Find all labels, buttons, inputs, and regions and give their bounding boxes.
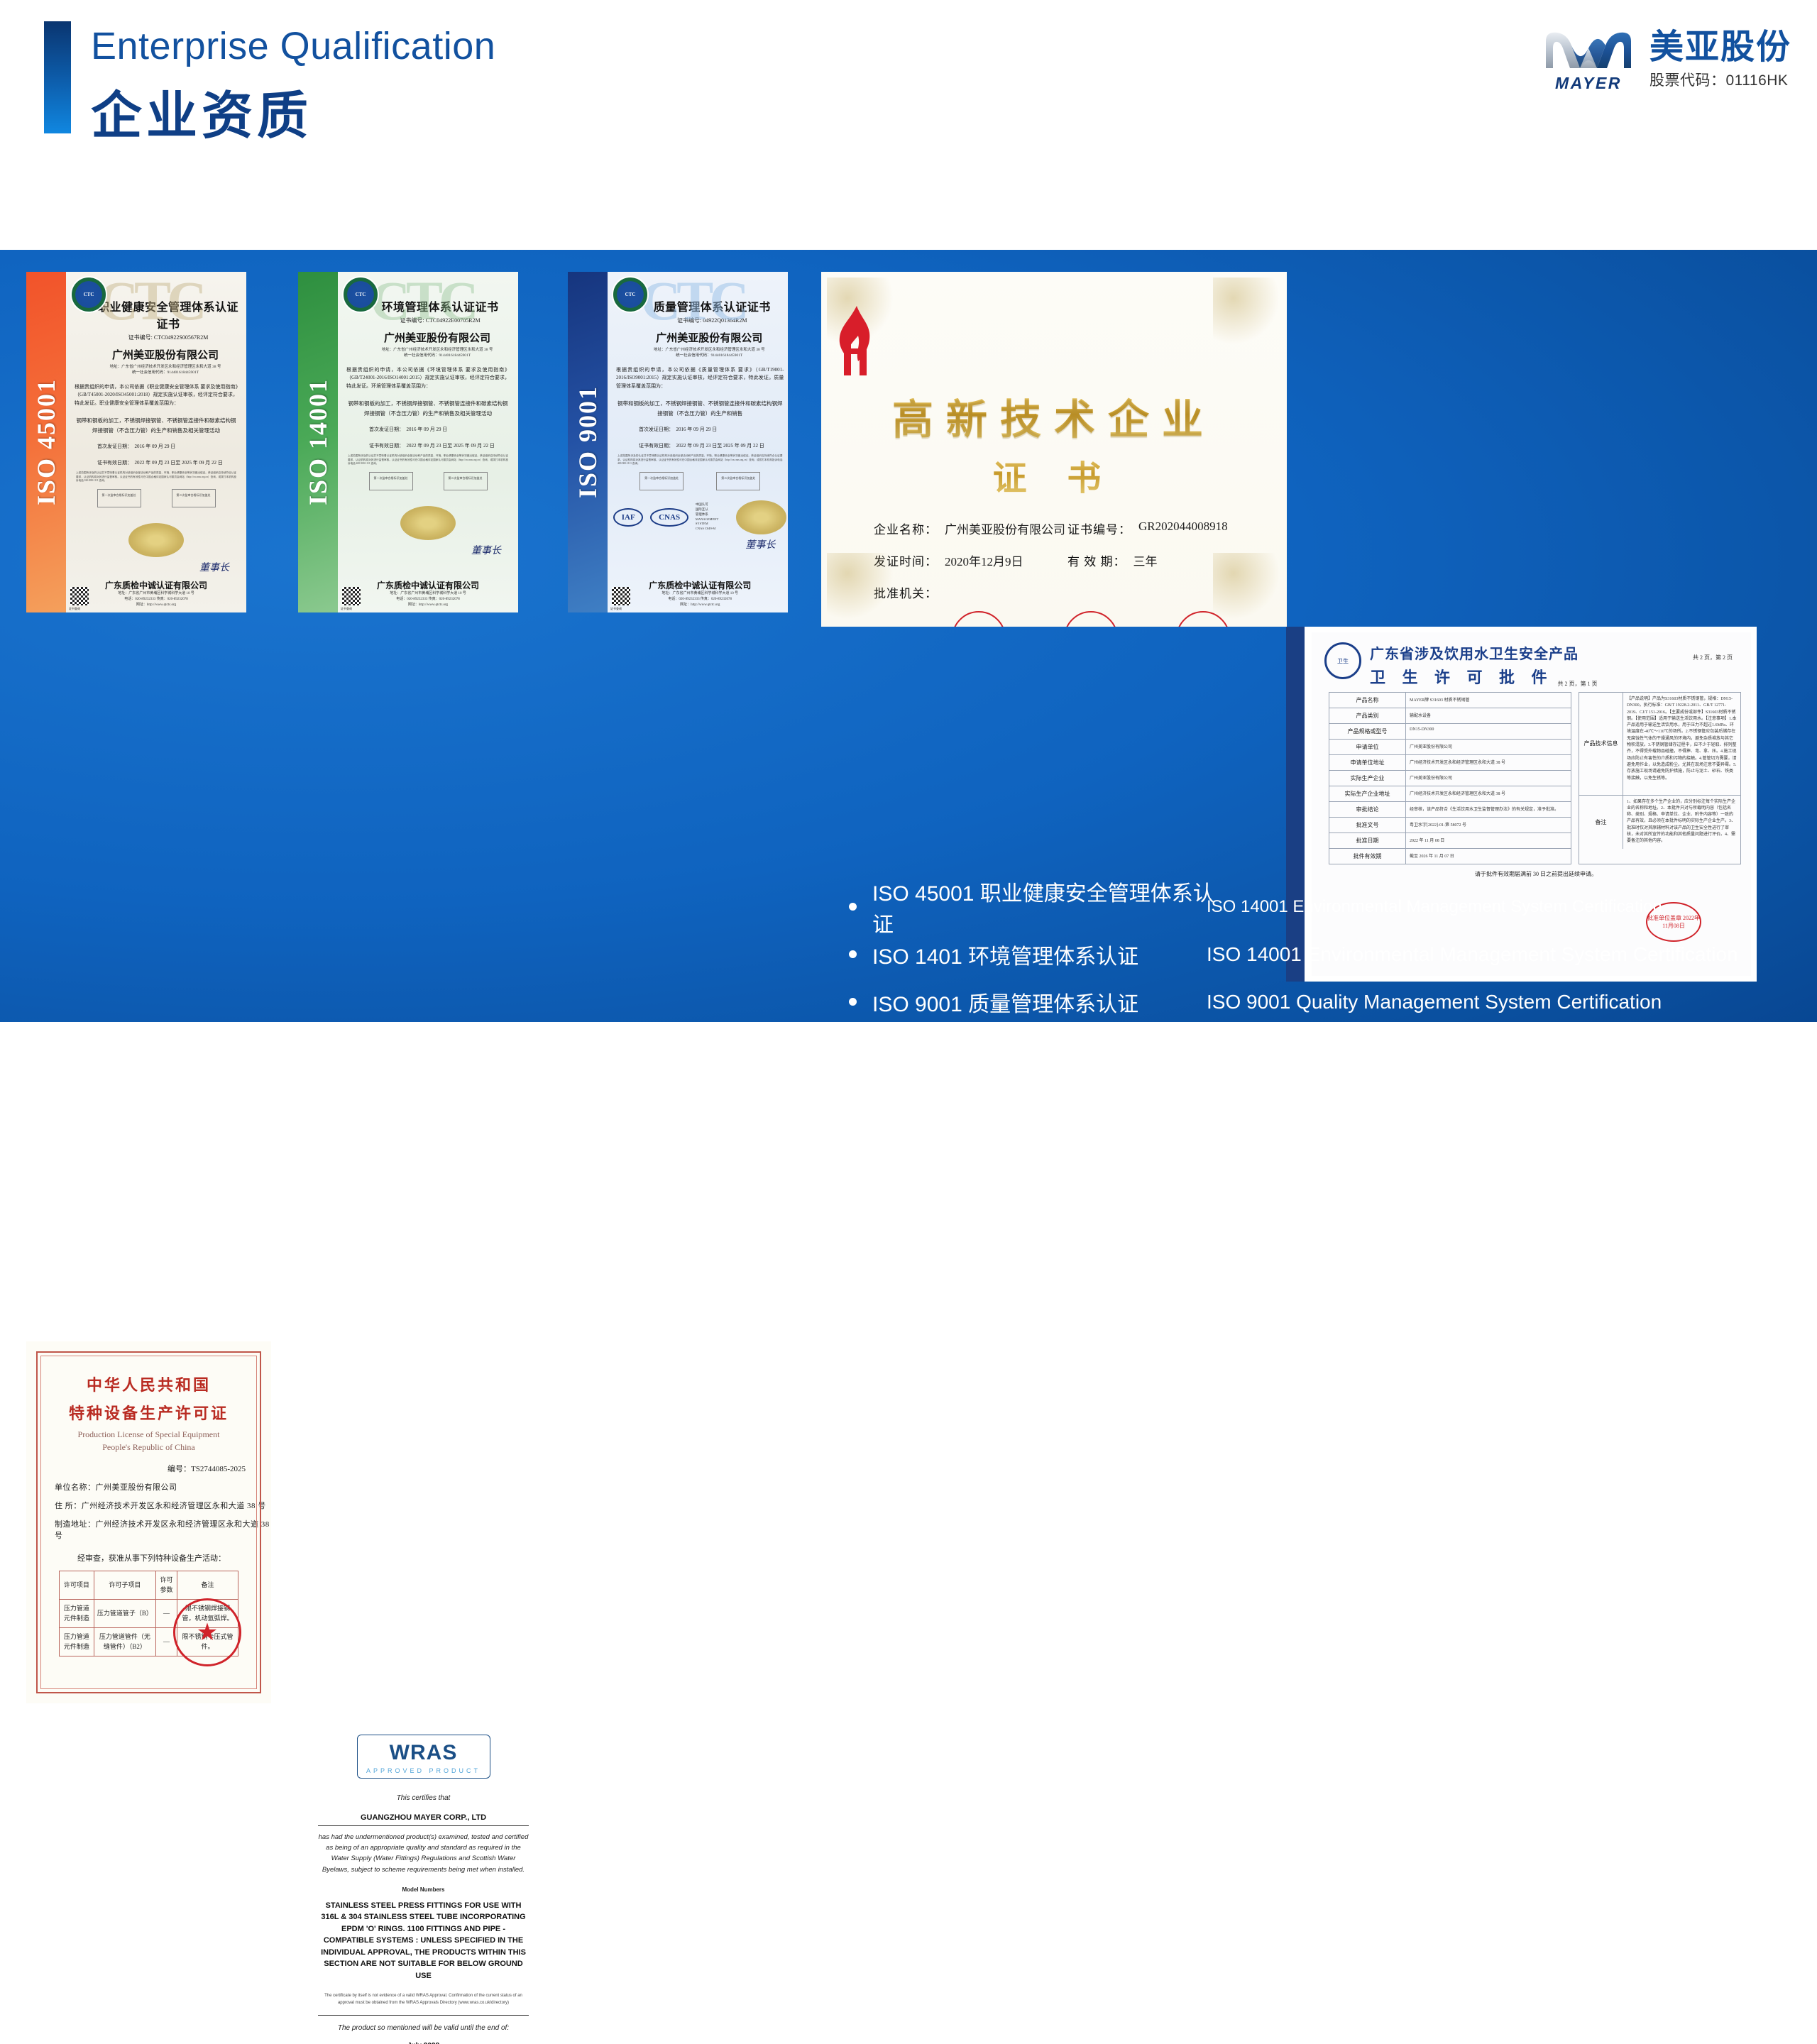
hitech-valid-value: 三年: [1133, 551, 1158, 569]
list-item: ISO 14001 Environmental Management Syste…: [1207, 930, 1810, 978]
health-tech-table: 产品技术信息 【产品说明】产品为S31603材质不锈钢管，规格：DN15-DN3…: [1579, 692, 1741, 864]
cnas-note-5: CNAS C049-M: [696, 527, 729, 532]
list-item-label: WaterMark Certificate: [1232, 1133, 1424, 1156]
iso9001-fineprint: 上述范围所涉及的认证并不意味着认证机构对该组织全部活动和产品的质量、环境、职业健…: [617, 454, 782, 466]
health-row-label: 批件有效期: [1329, 849, 1406, 864]
logo-text-block: 美亚股份 股票代码：01116HK: [1649, 31, 1791, 90]
bullet-icon: [849, 950, 857, 958]
iso14001-issuer: 广东质检中诚认证有限公司: [338, 579, 518, 591]
list-item-label: ISO 1401 环境管理体系认证: [872, 939, 1138, 970]
iso14001-fineprint: 上述范围所涉及的认证并不意味着认证机构对该组织全部活动和产品的质量、环境、职业健…: [348, 454, 508, 466]
wras-valid-date: July 2028: [318, 2042, 529, 2044]
table-row: 申请单位广州美亚股份有限公司: [1329, 740, 1571, 755]
certificate-hitech-enterprise[interactable]: 高新技术企业 证 书 企业名称： 广州美亚股份有限公司 证书编号： GR2020…: [821, 272, 1287, 627]
page-title-chinese: 企业资质: [91, 74, 312, 148]
cnas-note-3: 管理体系: [696, 512, 729, 517]
table-row: 批件有效期截至 2026 年 11 月 07 日: [1329, 849, 1571, 864]
ornament-corner-icon: [827, 553, 895, 621]
health-row-label: 批准文号: [1329, 818, 1406, 833]
iso45001-cert-no: 证书编号: CTC04922S00567R2M: [96, 334, 241, 341]
iso9001-issuer-addr: 地址：广东省广州市黄埔区科学城科学大道 10 号: [608, 591, 788, 597]
hitech-issue-value: 2020年12月9日: [945, 551, 1023, 569]
table-row: 产品规格或型号DN15-DN300: [1329, 724, 1571, 740]
hitech-company-value: 广州美亚股份有限公司: [945, 520, 1065, 537]
header-accent-bar: [44, 21, 71, 133]
wras-logo-icon: WRAS APPROVED PRODUCT: [357, 1735, 490, 1779]
official-stamp-icon: ★: [173, 1598, 241, 1666]
bullet-icon: [849, 903, 857, 911]
list-item-label: 高新技术企业: [872, 1224, 1000, 1255]
hitech-title: 高新技术企业: [821, 386, 1287, 446]
gold-seal-icon: [736, 500, 787, 534]
hitech-certno-value: GR202044008918: [1138, 520, 1228, 537]
ctc-seal-icon: CTC: [70, 276, 107, 313]
health-row-label: 审批结论: [1329, 802, 1406, 817]
list-item-label: 特种设备生产许可证: [872, 1034, 1064, 1065]
iso9001-audit-box-2: 第二次监审合格标识加盖处: [716, 472, 760, 490]
iso9001-issuer-tel: 电话：020-89232333 传真：020-89232078: [608, 597, 788, 603]
list-item: WRAS 认证: [849, 1073, 1218, 1121]
wras-model-label: Model Numbers: [318, 1886, 529, 1893]
health-header: 卫生 广东省涉及饮用水卫生安全产品 卫 生 许 可 批 件 共 2 页，第 1 …: [1312, 632, 1751, 688]
certificate-special-equipment[interactable]: 中华人民共和国 特种设备生产许可证 Production License of …: [26, 1341, 271, 1703]
iso45001-issuer-tel: 电话：020-89232333 传真：020-89232078: [66, 597, 246, 603]
health-page-left: 共 2 页，第 1 页: [1558, 680, 1598, 688]
iaf-logo-icon: IAF: [613, 508, 643, 527]
iso14001-audit-boxes: 第一次监审合格标识加盖处 第二次监审合格标识加盖处: [353, 472, 503, 490]
table-row: 申请单位地址广州经济技术开发区永和经济管理区永和大道 38 号: [1329, 755, 1571, 771]
hitech-row-company: 企业名称： 广州美亚股份有限公司 证书编号： GR202044008918: [874, 520, 1261, 537]
iso45001-issuer: 广东质检中诚认证有限公司: [66, 579, 246, 591]
list-item-label: ISO 14001 Environmental Management Syste…: [1207, 897, 1662, 917]
wras-certifies: This certifies that: [318, 1794, 529, 1802]
health-row-value: MAYER牌 S31603 材质不锈钢管: [1406, 693, 1571, 708]
iso9001-cert-no: 证书编号: 04922Q01364R2M: [637, 317, 786, 324]
iso14001-footer: 广东质检中诚认证有限公司 地址：广东省广州市黄埔区科学城科学大道 10 号 电话…: [338, 579, 518, 608]
health-row-value: 经审核，该产品符合《生活饮用水卫生监督管理办法》的有关规定，准予批准。: [1406, 802, 1571, 817]
list-item: ISO 9001 Quality Management System Certi…: [1207, 978, 1810, 1026]
health-tech-label: 产品技术信息: [1579, 693, 1623, 795]
health-row-label: 产品规格或型号: [1329, 724, 1406, 739]
health-row-label: 实际生产企业: [1329, 771, 1406, 786]
hitech-certno-label: 证书编号：: [1067, 520, 1131, 537]
company-name-chinese: 美亚股份: [1649, 31, 1791, 65]
iso9001-date-first: 首次发证日期： 2016 年 09 月 29 日: [639, 425, 786, 434]
iso45001-issuer-web: 网址：http://www.qtctc.org: [66, 603, 246, 608]
list-item: ISO 14001 Environmental Management Syste…: [1207, 883, 1810, 930]
wras-disclaimer: The certificate by itself is not evidenc…: [318, 1993, 529, 2016]
list-item: WaterMark Certificate: [1207, 1121, 1810, 1168]
gold-seal-icon: [128, 523, 184, 557]
wras-valid-label: The product so mentioned will be valid u…: [318, 2024, 529, 2032]
cnas-note-4: MANAGEMENT SYSTEM: [696, 517, 729, 527]
iso45001-title: 职业健康安全管理体系认证证书: [96, 297, 241, 331]
accreditation-logos: IAF CNAS 中国认可 国际互认 管理体系 MANAGEMENT SYSTE…: [613, 500, 786, 534]
iso14001-paragraph: 根据贵组织的申请，本公司依据《环境管理体系 要求及使用指南》（GB/T24001…: [346, 366, 510, 391]
iso45001-date-valid: 证书有效日期： 2022 年 09 月 23 日至 2025 年 09 月 22…: [97, 458, 241, 468]
health-title-2: 卫 生 许 可 批 件: [1370, 665, 1554, 688]
health-title-1: 广东省涉及饮用水卫生安全产品: [1370, 642, 1598, 663]
iso9001-footer: 广东质检中诚认证有限公司 地址：广东省广州市黄埔区科学城科学大道 10 号 电话…: [608, 579, 788, 608]
health-row-value: DN15-DN300: [1406, 724, 1571, 739]
wras-company: GUANGZHOU MAYER CORP., LTD: [318, 1813, 529, 1826]
iso45001-scope: 钢带和钢板的加工，不锈钢焊接钢管、不锈钢管连接件和碳素结构钢焊接钢管（不含压力管…: [75, 416, 238, 435]
iso14001-date-valid: 证书有效日期： 2022 年 09 月 23 日至 2025 年 09 月 22…: [369, 441, 512, 451]
list-item-label: WRAS Certification: [1232, 1086, 1402, 1109]
iso9001-scope: 钢带和钢板的加工，不锈钢焊接钢管、不锈钢管连接件和碳素结构钢焊接钢管（不含压力管…: [616, 399, 784, 418]
mayer-wordmark: MAYER: [1555, 74, 1622, 93]
list-item-label: 卫生许可批件: [872, 1177, 1000, 1208]
list-item: High - tech Enterprise: [1207, 1216, 1810, 1263]
hitech-row-issue: 发证时间： 2020年12月9日 有 效 期： 三年: [874, 551, 1261, 569]
iso45001-addr1: 地址：广东省广州经济技术开发区永和经济管理区永和大道 38 号: [90, 364, 241, 370]
iso14001-issuer-web: 网址：http://www.qtctc.org: [338, 603, 518, 608]
list-item-label: Health Permit Approval: [1232, 1181, 1435, 1204]
iso14001-cert-no: 证书编号: CTC04922E00705R2M: [368, 317, 512, 324]
iso14001-body: CTC CTC 环境管理体系认证证书 证书编号: CTC04922E00705R…: [338, 272, 518, 612]
table-row: 批准日期2022 年 11 月 08 日: [1329, 833, 1571, 849]
ctc-seal-icon: CTC: [612, 276, 649, 313]
hitech-row-authority: 批准机关：: [874, 583, 1261, 601]
table-row: 备注 1、如果存在多个生产企业的，应分别标注每个实际生产企业的名称和地址。2、本…: [1579, 796, 1740, 849]
iso9001-org: 广州美亚股份有限公司: [632, 330, 786, 345]
iso45001-addr2: 统一社会信用代码：914401618445901T: [90, 370, 241, 375]
iso45001-signature: 董事长: [72, 560, 229, 574]
certificate-iso14001[interactable]: ISO 14001 CTC CTC 环境管理体系认证证书 证书编号: CTC04…: [298, 272, 518, 612]
iso14001-spine: ISO 14001: [298, 272, 338, 612]
table-row: 产品类别输配水设备: [1329, 708, 1571, 724]
list-item: 高新技术企业: [849, 1216, 1218, 1263]
table-row: 审批结论经审核，该产品符合《生活饮用水卫生监督管理办法》的有关规定，准予批准。: [1329, 802, 1571, 818]
table-row: 实际生产企业广州美亚股份有限公司: [1329, 771, 1571, 786]
table-row: 产品技术信息 【产品说明】产品为S31603材质不锈钢管，规格：DN15-DN3…: [1579, 693, 1740, 796]
iso9001-body: CTC CTC 质量管理体系认证证书 证书编号: 04922Q01364R2M …: [608, 272, 788, 612]
mayer-logo-mark: MAYER: [1543, 27, 1634, 93]
iso9001-signature: 董事长: [613, 537, 775, 551]
health-row-value: 截至 2026 年 11 月 07 日: [1406, 849, 1571, 864]
mayer-m-icon: [1543, 27, 1634, 71]
qualification-list-english: ISO 14001 Environmental Management Syste…: [1207, 883, 1810, 1263]
list-item-label: WRAS 认证: [872, 1082, 984, 1113]
qualification-list-chinese: ISO 45001 职业健康安全管理体系认证 ISO 1401 环境管理体系认证…: [849, 883, 1218, 1263]
page-title-english: Enterprise Qualification: [91, 24, 495, 68]
bullet-icon: [849, 1141, 857, 1148]
health-row-label: 批准日期: [1329, 833, 1406, 848]
table-row: 批准文号粤卫水字[2022]-01-第 58072 号: [1329, 818, 1571, 833]
list-item: WRAS Certification: [1207, 1073, 1810, 1121]
certificate-iso9001[interactable]: ISO 9001 CTC CTC 质量管理体系认证证书 证书编号: 04922Q…: [568, 272, 788, 612]
wras-logo-sub: APPROVED PRODUCT: [362, 1767, 485, 1774]
bullet-icon: [849, 1188, 857, 1196]
list-item-label: High - tech Enterprise: [1232, 1229, 1424, 1251]
official-stamp-icon: ★: [1064, 611, 1118, 627]
iso45001-paragraph: 根据贵组织的申请，本公司依据《职业健康安全管理体系 要求及使用指南》（GB/T4…: [75, 383, 238, 408]
iso9001-date-valid: 证书有效日期： 2022 年 09 月 23 日至 2025 年 09 月 22…: [639, 441, 786, 451]
health-row-value: 2022 年 11 月 08 日: [1406, 833, 1571, 848]
list-item: 特种设备生产许可证: [849, 1026, 1218, 1073]
health-remark-value: 1、如果存在多个生产企业的，应分别标注每个实际生产企业的名称和地址。2、本批件只…: [1623, 796, 1740, 849]
iso45001-date-first: 首次发证日期： 2016 年 09 月 29 日: [97, 442, 241, 451]
list-item-label: WaterMark证书: [872, 1129, 1019, 1160]
bullet-icon: [849, 1045, 857, 1053]
iso14001-scope: 钢带和钢板的加工，不锈钢焊接钢管、不锈钢管连接件和碳素结构钢焊接钢管（不含压力管…: [346, 399, 510, 418]
iso45001-issuer-addr: 地址：广东省广州市黄埔区科学城科学大道 10 号: [66, 591, 246, 597]
company-logo: MAYER 美亚股份 股票代码：01116HK: [1543, 27, 1791, 93]
bullet-icon: [849, 1093, 857, 1101]
cnas-logo-icon: CNAS: [650, 508, 688, 527]
table-row: 产品名称MAYER牌 S31603 材质不锈钢管: [1329, 693, 1571, 708]
iso14001-issuer-tel: 电话：020-89232333 传真：020-89232078: [338, 597, 518, 603]
iso45001-footer: 广东质检中诚认证有限公司 地址：广东省广州市黄埔区科学城科学大道 10 号 电话…: [66, 579, 246, 608]
list-item-label: ISO 45001 职业健康安全管理体系认证: [872, 876, 1218, 938]
bullet-icon: [849, 998, 857, 1006]
wras-model-text: STAINLESS STEEL PRESS FITTINGS FOR USE W…: [318, 1900, 529, 1982]
cnas-note: 中国认可 国际互认 管理体系 MANAGEMENT SYSTEM CNAS C0…: [696, 502, 729, 532]
gold-seal-icon: [400, 506, 456, 540]
cnas-note-1: 中国认可: [696, 502, 729, 507]
iso45001-org: 广州美亚股份有限公司: [90, 347, 241, 362]
health-row-value: 广州经济技术开发区永和经济管理区永和大道 38 号: [1406, 786, 1571, 801]
health-main-table: 产品名称MAYER牌 S31603 材质不锈钢管 产品类别输配水设备 产品规格或…: [1329, 692, 1571, 864]
iso9001-issuer: 广东质检中诚认证有限公司: [608, 579, 788, 591]
iso9001-addr2: 统一社会信用代码：914401618445901T: [632, 353, 786, 358]
health-row-label: 申请单位地址: [1329, 755, 1406, 770]
official-stamp-icon: ★: [952, 611, 1006, 627]
list-item: ISO 9001 质量管理体系认证: [849, 978, 1218, 1026]
health-seal-icon: 卫生: [1324, 642, 1361, 679]
wras-paragraph: has had the undermentioned product(s) ex…: [318, 1832, 529, 1875]
ctc-seal-icon: CTC: [342, 276, 379, 313]
iso14001-date-first: 首次发证日期： 2016 年 09 月 29 日: [369, 425, 512, 434]
health-row-label: 产品名称: [1329, 693, 1406, 708]
table-row: 实际生产企业地址广州经济技术开发区永和经济管理区永和大道 38 号: [1329, 786, 1571, 802]
iso14001-audit-box-2: 第二次监审合格标识加盖处: [444, 472, 488, 490]
hitech-fields: 企业名称： 广州美亚股份有限公司 证书编号： GR202044008918 发证…: [874, 520, 1261, 601]
list-item-label: Special Equipment Manufacturing Permit: [1232, 1038, 1592, 1061]
health-note: 请于批件有效期届满前 30 日之前提出延续申请。: [1475, 870, 1751, 878]
hitech-subtitle: 证 书: [821, 450, 1287, 500]
iso14001-signature: 董事长: [344, 543, 501, 557]
health-row-value: 粤卫水字[2022]-01-第 58072 号: [1406, 818, 1571, 833]
certificate-iso45001[interactable]: ISO 45001 CTC CTC 职业健康安全管理体系认证证书 证书编号: C…: [26, 272, 246, 612]
list-item-label: ISO 9001 质量管理体系认证: [872, 987, 1138, 1018]
iso14001-issuer-addr: 地址：广东省广州市黄埔区科学城科学大道 10 号: [338, 591, 518, 597]
list-item: Health Permit Approval: [1207, 1168, 1810, 1216]
iso14001-title: 环境管理体系认证证书: [368, 297, 512, 314]
list-item: 卫生许可批件: [849, 1168, 1218, 1216]
iso14001-audit-box-1: 第一次监审合格标识加盖处: [369, 472, 413, 490]
list-item-label: ISO 9001 Quality Management System Certi…: [1207, 991, 1662, 1013]
iso45001-audit-boxes: 第一次监审合格标识加盖处 第二次监审合格标识加盖处: [82, 489, 231, 507]
iso9001-paragraph: 根据贵组织的申请，本公司依据《质量管理体系 要求》（GB/T19001-2016…: [616, 366, 784, 391]
health-tables: 产品名称MAYER牌 S31603 材质不锈钢管 产品类别输配水设备 产品规格或…: [1312, 688, 1751, 864]
iso9001-spine: ISO 9001: [568, 272, 608, 612]
ornament-corner-icon: [1213, 553, 1281, 621]
iso45001-fineprint: 上述范围所涉及的认证并不意味着认证机构对该组织全部活动和产品的质量、环境、职业健…: [76, 471, 236, 483]
list-item: WaterMark证书: [849, 1121, 1218, 1168]
iso45001-body: CTC CTC 职业健康安全管理体系认证证书 证书编号: CTC04922S00…: [66, 272, 246, 612]
health-row-label: 申请单位: [1329, 740, 1406, 754]
hitech-valid-label: 有 效 期：: [1067, 551, 1126, 569]
page-header: Enterprise Qualification 企业资质 MAYER: [0, 0, 1817, 250]
cnas-note-2: 国际互认: [696, 507, 729, 512]
iso9001-addr1: 地址：广东省广州经济技术开发区永和经济管理区永和大道 38 号: [632, 347, 786, 353]
iso14001-addr1: 地址：广东省广州经济技术开发区永和经济管理区永和大道 38 号: [362, 347, 512, 353]
health-row-label: 产品类别: [1329, 708, 1406, 723]
health-row-value: 输配水设备: [1406, 708, 1571, 723]
bullet-icon: [849, 1236, 857, 1243]
iso9001-title: 质量管理体系认证证书: [637, 297, 786, 314]
stock-code: 股票代码：01116HK: [1649, 69, 1791, 90]
list-item-label: ISO 14001 Environmental Management Syste…: [1207, 943, 1738, 966]
iso9001-audit-box-1: 第一次监审合格标识加盖处: [639, 472, 684, 490]
health-page-right: 共 2 页，第 2 页: [1693, 654, 1733, 661]
iso45001-audit-box-1: 第一次监审合格标识加盖处: [97, 489, 141, 507]
iso45001-spine: ISO 45001: [26, 272, 66, 612]
list-item: ISO 45001 职业健康安全管理体系认证: [849, 883, 1218, 930]
qualification-panel: ISO 45001 CTC CTC 职业健康安全管理体系认证证书 证书编号: C…: [0, 250, 1817, 1022]
certificate-wras[interactable]: WRAS APPROVED PRODUCT This certifies tha…: [301, 1703, 546, 2044]
health-row-value: 广州经济技术开发区永和经济管理区永和大道 38 号: [1406, 755, 1571, 770]
iso45001-audit-box-2: 第二次监审合格标识加盖处: [172, 489, 216, 507]
health-row-label: 实际生产企业地址: [1329, 786, 1406, 801]
hitech-flame-icon: [821, 304, 888, 378]
wras-logo-text: WRAS: [362, 1741, 485, 1765]
health-tech-value: 【产品说明】产品为S31603材质不锈钢管，规格：DN15-DN300，执行标准…: [1623, 693, 1740, 795]
iso14001-addr2: 统一社会信用代码：914401618445901T: [362, 353, 512, 358]
iso14001-org: 广州美亚股份有限公司: [362, 330, 512, 345]
iso9001-audit-boxes: 第一次监审合格标识加盖处 第二次监审合格标识加盖处: [623, 472, 776, 490]
ornament-corner-icon: [1213, 278, 1281, 346]
hitech-company-label: 企业名称：: [874, 520, 938, 537]
health-row-value: 广州美亚股份有限公司: [1406, 740, 1571, 754]
list-item: Special Equipment Manufacturing Permit: [1207, 1026, 1810, 1073]
health-row-value: 广州美亚股份有限公司: [1406, 771, 1571, 786]
iso9001-issuer-web: 网址：http://www.qtctc.org: [608, 603, 788, 608]
health-remark-label: 备注: [1579, 796, 1623, 849]
